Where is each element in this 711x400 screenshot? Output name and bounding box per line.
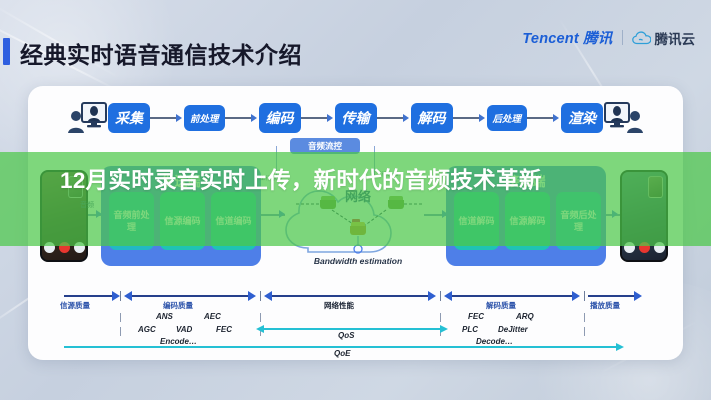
qos-label: QoS	[338, 331, 354, 340]
page-title: 经典实时语音通信技术介绍	[20, 36, 302, 70]
metric-arrow	[264, 291, 272, 301]
metric-line	[132, 295, 248, 297]
metric-label-network-performance: 网络性能	[324, 300, 354, 311]
qos-line	[264, 328, 444, 330]
metric-arrow	[248, 291, 256, 301]
user-capture-icon	[68, 101, 108, 135]
metric-separator	[584, 327, 585, 336]
metric-separator	[440, 313, 441, 322]
metric-separator	[584, 313, 585, 322]
tencent-logo-text: Tencent 腾讯	[522, 27, 612, 48]
qoe-line	[64, 346, 620, 348]
metric-separator	[120, 327, 121, 336]
metric-line	[588, 295, 638, 297]
metric-line	[452, 295, 572, 297]
encode-tag-ans: ANS	[156, 312, 173, 321]
pipeline-step-render[interactable]: 渲染	[561, 103, 603, 133]
encode-name: Encode…	[160, 337, 197, 346]
pipeline-step-capture[interactable]: 采集	[108, 103, 150, 133]
pipeline-arrow	[527, 114, 561, 122]
quality-metrics-ruler: 信源质量 编码质量 网络性能 解码质量 播放质量	[28, 291, 683, 360]
qos-arrow	[256, 325, 264, 333]
pipeline-arrow	[377, 114, 411, 122]
slide-background: 经典实时语音通信技术介绍 Tencent 腾讯 腾讯云	[0, 0, 711, 400]
tencent-cloud-label: 腾讯云	[655, 28, 696, 48]
metric-separator	[260, 313, 261, 322]
metric-label-decode-quality: 解码质量	[486, 300, 516, 311]
encode-tag-aec: AEC	[204, 312, 221, 321]
metric-arrow	[572, 291, 580, 301]
metric-arrow	[634, 291, 642, 301]
qos-arrow	[440, 325, 448, 333]
metric-line	[272, 295, 428, 297]
pipeline-arrow	[225, 114, 259, 122]
audio-pipeline-flow: 采集 前处理 编码 传输 解码 后处理 渲染	[28, 94, 683, 142]
metric-arrow	[124, 291, 132, 301]
encode-tag-vad: VAD	[176, 325, 192, 334]
slide-header: 经典实时语音通信技术介绍 Tencent 腾讯 腾讯云	[0, 0, 711, 88]
pipeline-step-encode[interactable]: 编码	[259, 103, 301, 133]
decode-name: Decode…	[476, 337, 513, 346]
tencent-cloud-logo: 腾讯云	[632, 28, 696, 48]
pipeline-step-postprocess[interactable]: 后处理	[487, 105, 528, 131]
metric-tick	[584, 291, 585, 301]
user-render-icon	[603, 101, 643, 135]
cloud-icon	[632, 31, 651, 45]
pipeline-step-transmit[interactable]: 传输	[335, 103, 377, 133]
article-title-overlay: 12月实时录音实时上传，新时代的音频技术革新	[0, 152, 711, 246]
decode-tag-arq: ARQ	[516, 312, 534, 321]
metric-tick	[260, 291, 261, 301]
metric-label-source-quality: 信源质量	[60, 300, 90, 311]
decode-tag-plc: PLC	[462, 325, 478, 334]
pipeline-arrow	[301, 114, 335, 122]
pipeline-arrow	[150, 114, 184, 122]
qoe-arrow	[616, 343, 624, 351]
qoe-label: QoE	[334, 349, 350, 358]
metric-arrow	[428, 291, 436, 301]
decode-tag-fec: FEC	[468, 312, 484, 321]
metric-arrow	[444, 291, 452, 301]
bandwidth-estimation-label: Bandwidth estimation	[268, 256, 448, 266]
metric-arrow	[112, 291, 120, 301]
metric-tick	[120, 291, 121, 301]
metric-separator	[120, 313, 121, 322]
decode-tag-dejitter: DeJitter	[498, 325, 528, 334]
brand-divider	[622, 30, 623, 45]
pipeline-step-decode[interactable]: 解码	[411, 103, 453, 133]
brand-lockup: Tencent 腾讯 腾讯云	[522, 27, 695, 48]
metric-tick	[440, 291, 441, 301]
title-accent-bar	[3, 38, 10, 65]
pipeline-step-preprocess[interactable]: 前处理	[184, 105, 225, 131]
encode-tag-agc: AGC	[138, 325, 156, 334]
metric-label-playback-quality: 播放质量	[590, 300, 620, 311]
metric-line	[64, 295, 116, 297]
metric-label-encode-quality: 编码质量	[163, 300, 193, 311]
article-title-text: 12月实时录音实时上传，新时代的音频技术革新	[60, 165, 660, 197]
encode-tag-fec: FEC	[216, 325, 232, 334]
pipeline-arrow	[453, 114, 487, 122]
